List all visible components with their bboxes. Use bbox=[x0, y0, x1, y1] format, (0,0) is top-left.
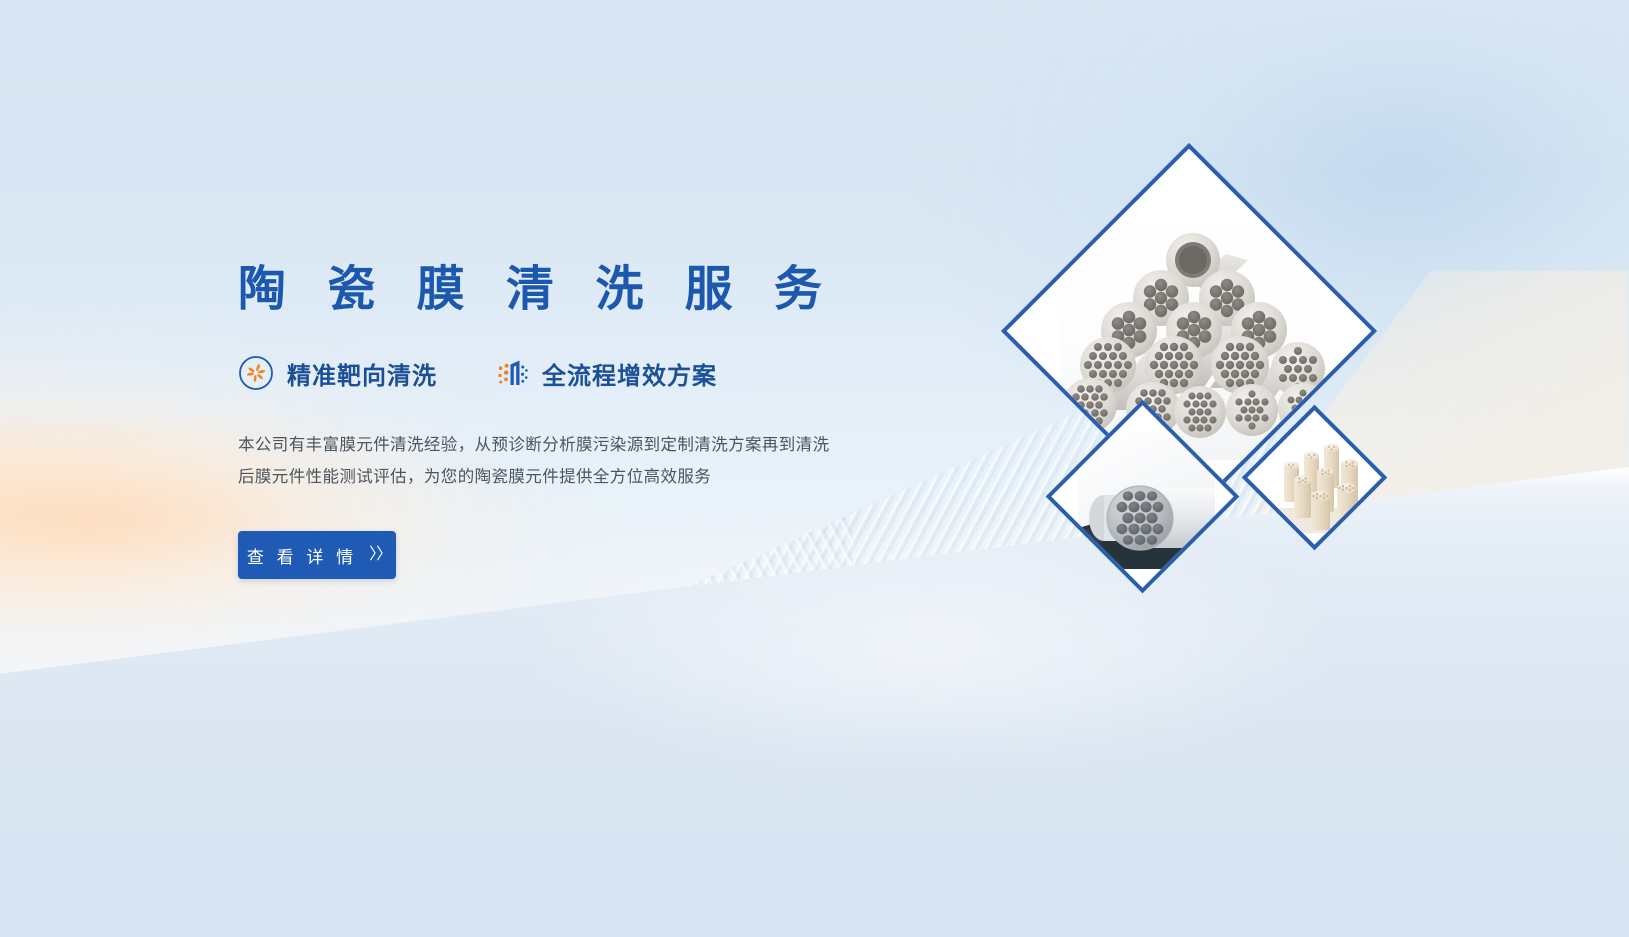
hero-banner: 陶 瓷 膜 清 洗 服 务 bbox=[0, 0, 1629, 937]
view-details-button[interactable]: 查 看 详 情 〉〉 bbox=[238, 531, 396, 579]
description-line: 本公司有丰富膜元件清洗经验，从预诊断分析膜污染源到定制清洗方案再到清洗 bbox=[238, 429, 898, 461]
diamond-main-photo bbox=[1060, 202, 1318, 460]
photo-membrane-closeup bbox=[1078, 432, 1207, 561]
description-text: 本公司有丰富膜元件清洗经验，从预诊断分析膜污染源到定制清洗方案再到清洗 后膜元件… bbox=[238, 429, 898, 493]
feature-list: 精准靶向清洗 bbox=[238, 355, 938, 391]
feature-item-precision-cleaning: 精准靶向清洗 bbox=[238, 355, 437, 391]
photo-stacked-membrane-tubes bbox=[1060, 202, 1318, 460]
diamond-right-photo bbox=[1267, 430, 1362, 525]
feature-label: 精准靶向清洗 bbox=[287, 356, 437, 391]
description-line: 后膜元件性能测试评估，为您的陶瓷膜元件提供全方位高效服务 bbox=[238, 461, 898, 493]
pinwheel-icon bbox=[238, 355, 274, 391]
beige-cylinders-illustration bbox=[1267, 430, 1370, 533]
feature-item-full-process: 全流程增效方案 bbox=[493, 355, 717, 391]
hero-content: 陶 瓷 膜 清 洗 服 务 bbox=[238, 262, 938, 579]
flow-gate-icon bbox=[493, 355, 529, 391]
diamond-image-cluster bbox=[1010, 150, 1470, 670]
double-chevron-right-icon: 〉〉 bbox=[369, 547, 391, 563]
feature-label: 全流程增效方案 bbox=[542, 356, 717, 391]
membrane-closeup-illustration bbox=[1078, 432, 1215, 569]
page-title: 陶 瓷 膜 清 洗 服 务 bbox=[238, 262, 938, 317]
diamond-bottom-left-photo bbox=[1078, 432, 1207, 561]
view-details-label: 查 看 详 情 bbox=[243, 543, 357, 568]
stacked-tubes-illustration bbox=[1060, 202, 1326, 468]
photo-beige-cylinders bbox=[1267, 430, 1362, 525]
